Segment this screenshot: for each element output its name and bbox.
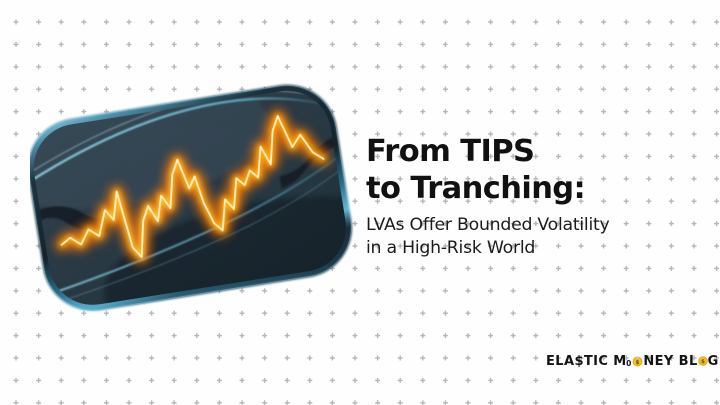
svg-text:$: $ — [636, 360, 640, 366]
subtitle-line-2: in a High-Risk World — [366, 237, 696, 260]
gold-coin-icon: $ — [698, 356, 708, 366]
headline-line-1: From TIPS — [366, 134, 696, 170]
logo-text-g: G — [708, 355, 719, 368]
logo-text-m-subscript: 0 — [626, 360, 631, 368]
logo-dollar-sign: $ — [574, 355, 583, 368]
gold-coin-icon: $ — [632, 355, 643, 367]
svg-text:$: $ — [701, 359, 705, 365]
logo-text-m: M — [613, 355, 626, 368]
headline-line-2: to Tranching: — [366, 171, 696, 207]
logo-text-ela: ELA — [546, 355, 574, 368]
subtitle-line-1: LVAs Offer Bounded Volatility — [366, 214, 696, 237]
brand-logo[interactable]: ELA $ TIC M 0 $ NEY BL $ G — [546, 352, 719, 370]
logo-text-tic: TIC — [584, 355, 608, 368]
text-block: From TIPS to Tranching: LVAs Offer Bound… — [366, 134, 696, 259]
hero-device-illustration — [30, 82, 360, 314]
waveform-capsule-icon — [30, 82, 360, 314]
poster-canvas: From TIPS to Tranching: LVAs Offer Bound… — [0, 0, 720, 405]
logo-text-ney-blog: NEY BL — [643, 355, 697, 368]
